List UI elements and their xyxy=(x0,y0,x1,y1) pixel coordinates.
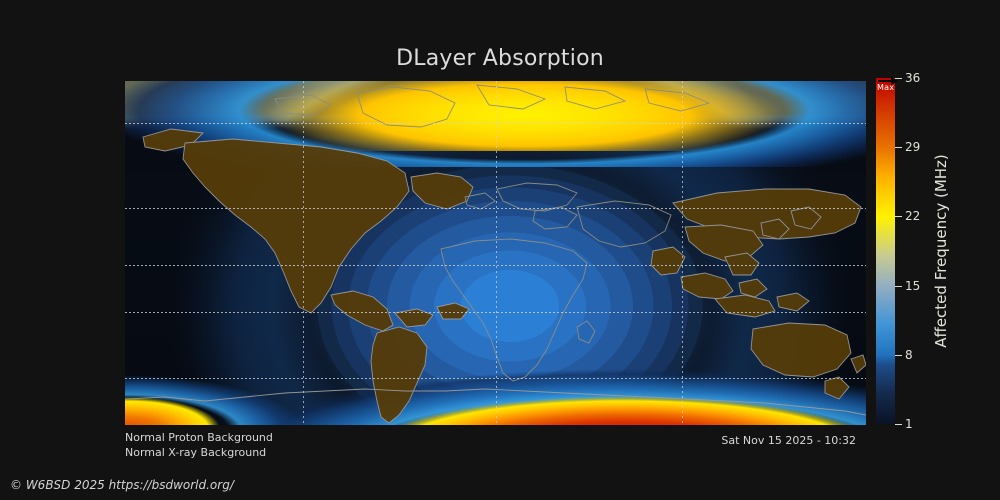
absorption-map[interactable] xyxy=(125,81,866,425)
page-title: DLayer Absorption xyxy=(0,46,1000,71)
colorbar-tick-22 xyxy=(895,216,902,217)
colorbar-tick-label-29: 29 xyxy=(905,140,920,154)
colorbar-tick-15 xyxy=(895,286,902,287)
colorbar-tick-label-1: 1 xyxy=(905,417,913,431)
colorbar-axis-label-text: Affected Frequency (MHz) xyxy=(932,154,950,348)
colorbar[interactable]: Max xyxy=(876,78,895,424)
colorbar-max-label: Max xyxy=(877,83,894,92)
xray-background-status: Normal X-ray Background xyxy=(125,445,273,460)
colorbar-tick-1 xyxy=(895,424,902,425)
colorbar-tick-label-36: 36 xyxy=(905,71,920,85)
colorbar-axis-label: Affected Frequency (MHz) xyxy=(930,78,952,424)
colorbar-tick-8 xyxy=(895,355,902,356)
colorbar-tick-label-15: 15 xyxy=(905,279,920,293)
colorbar-tick-label-8: 8 xyxy=(905,348,913,362)
colorbar-gradient xyxy=(876,78,895,424)
copyright-footer: © W6BSD 2025 https://bsdworld.org/ xyxy=(10,478,234,492)
colorbar-tick-29 xyxy=(895,147,902,148)
colorbar-tick-36 xyxy=(895,78,902,79)
colorbar-tick-label-22: 22 xyxy=(905,209,920,223)
timestamp: Sat Nov 15 2025 - 10:32 xyxy=(0,434,856,447)
coastline-layer xyxy=(125,81,866,425)
